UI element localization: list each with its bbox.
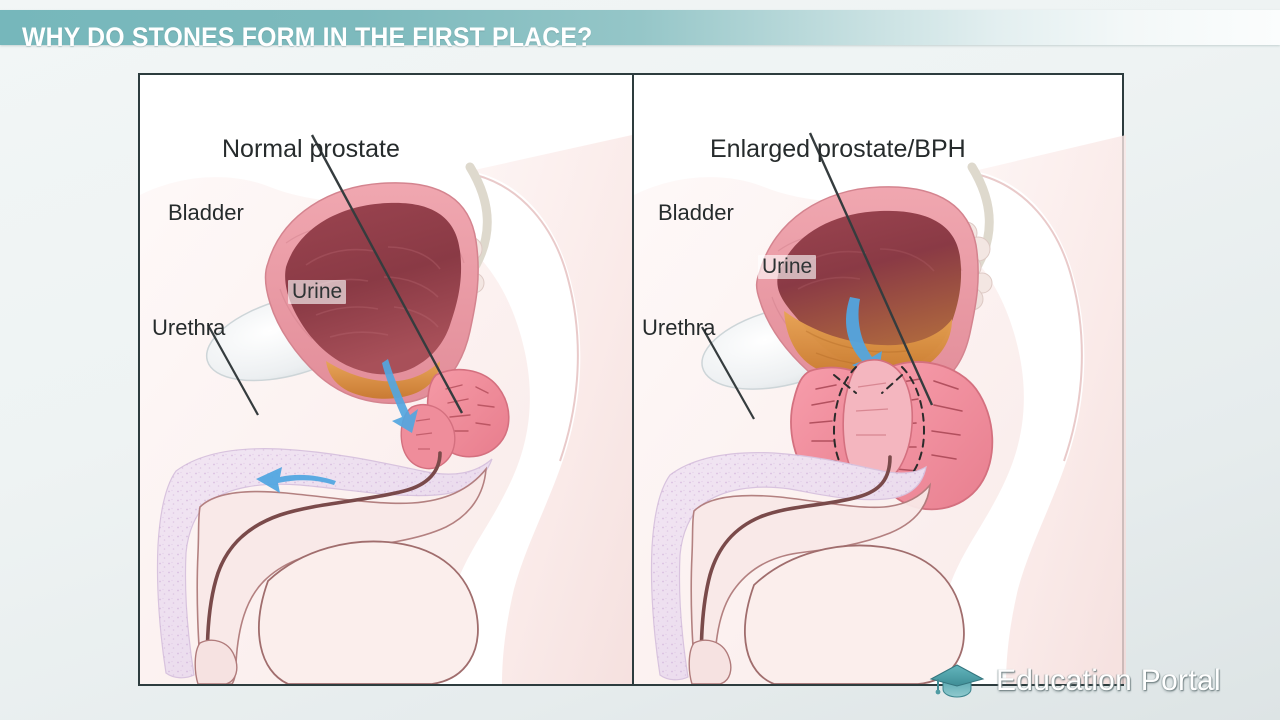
page-title: WHY DO STONES FORM IN THE FIRST PLACE?	[22, 21, 593, 54]
enlarged-prostate-illustration	[634, 75, 1126, 684]
enlarged-prostate-diagram: Enlarged prostate/BPH Bladder Urine Uret…	[634, 75, 1126, 684]
normal-prostate-illustration	[140, 75, 632, 684]
logo-text: Education Portal	[996, 664, 1221, 698]
figure-panel: Normal prostate Bladder Urine Urethra	[138, 73, 1124, 686]
education-portal-logo[interactable]: Education Portal	[928, 652, 1268, 710]
title-bar: WHY DO STONES FORM IN THE FIRST PLACE?	[0, 10, 1280, 45]
graduation-cap-icon	[928, 659, 986, 703]
normal-prostate-diagram: Normal prostate Bladder Urine Urethra	[140, 75, 632, 684]
urethra-and-penis	[157, 449, 492, 684]
